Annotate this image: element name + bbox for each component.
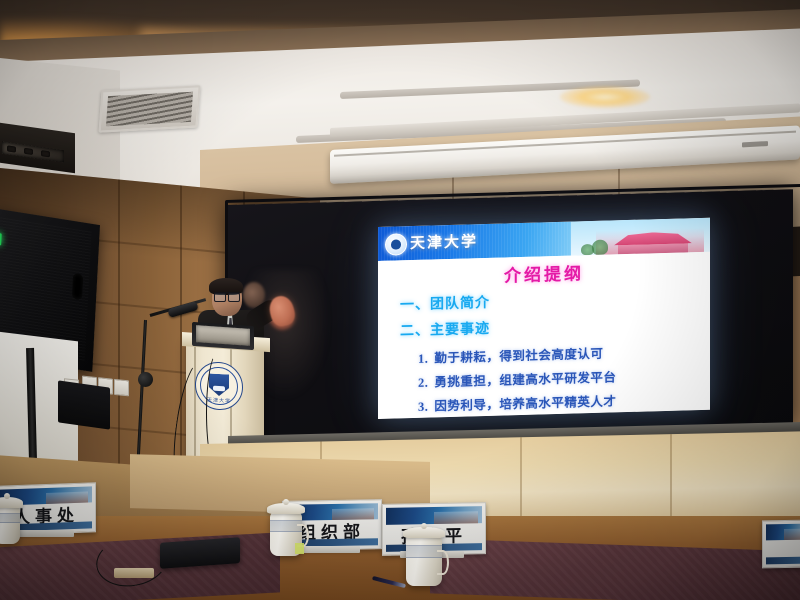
floor-monitor: [58, 380, 110, 429]
slide-section-2: 二、主要事迹: [400, 318, 490, 341]
slide-section-2-marker: 二、: [400, 323, 430, 340]
nameplate-4: [762, 520, 800, 569]
nameplate-2-stand: [298, 546, 360, 553]
teacup-icon: [406, 536, 442, 586]
nameplate-1-stand: [14, 530, 74, 537]
slide-item-1: 1.勤于耕耘，得到社会高度认可: [418, 343, 603, 367]
presentation-slide: 天津大学 介绍提纲 一、团队简介 二、主要事迹 1.勤于耕耘，得到社会高度认可 …: [378, 218, 710, 419]
laptop-icon[interactable]: [192, 322, 254, 350]
teacup-icon: [0, 506, 20, 544]
air-vent-icon: [99, 85, 201, 132]
teacup-icon: [270, 512, 302, 556]
slide-section-1: 一、团队简介: [400, 292, 490, 315]
slide-item-1-text: 勤于耕耘，得到社会高度认可: [434, 346, 603, 366]
slide-title: 介绍提纲: [378, 256, 710, 290]
slide-university-name: 天津大学: [410, 230, 478, 253]
slide-section-2-label: 主要事迹: [430, 321, 490, 339]
presentation-photo: 天津大学 介绍提纲 一、团队简介 二、主要事迹 1.勤于耕耘，得到社会高度认可 …: [0, 0, 800, 600]
slide-item-1-number: 1.: [418, 352, 428, 366]
eyeglasses-icon: [214, 292, 240, 300]
slide-section-1-marker: 一、: [400, 297, 430, 314]
ceiling-light-icon: [560, 86, 650, 108]
slide-item-2-text: 勇挑重担，组建高水平研发平台: [434, 369, 616, 389]
slide-item-2-number: 2.: [418, 376, 428, 390]
microphone-stand-clamp: [138, 372, 153, 387]
slide-section-1-label: 团队简介: [430, 295, 490, 313]
slide-item-3: 3.因势利导，培养高水平精英人才: [418, 390, 616, 415]
slide-body: 介绍提纲 一、团队简介 二、主要事迹 1.勤于耕耘，得到社会高度认可 2.勇挑重…: [378, 252, 710, 419]
slide-item-3-text: 因势利导，培养高水平精英人才: [434, 393, 616, 413]
slide-item-2: 2.勇挑重担，组建高水平研发平台: [418, 366, 616, 391]
slide-item-3-number: 3.: [418, 400, 428, 414]
